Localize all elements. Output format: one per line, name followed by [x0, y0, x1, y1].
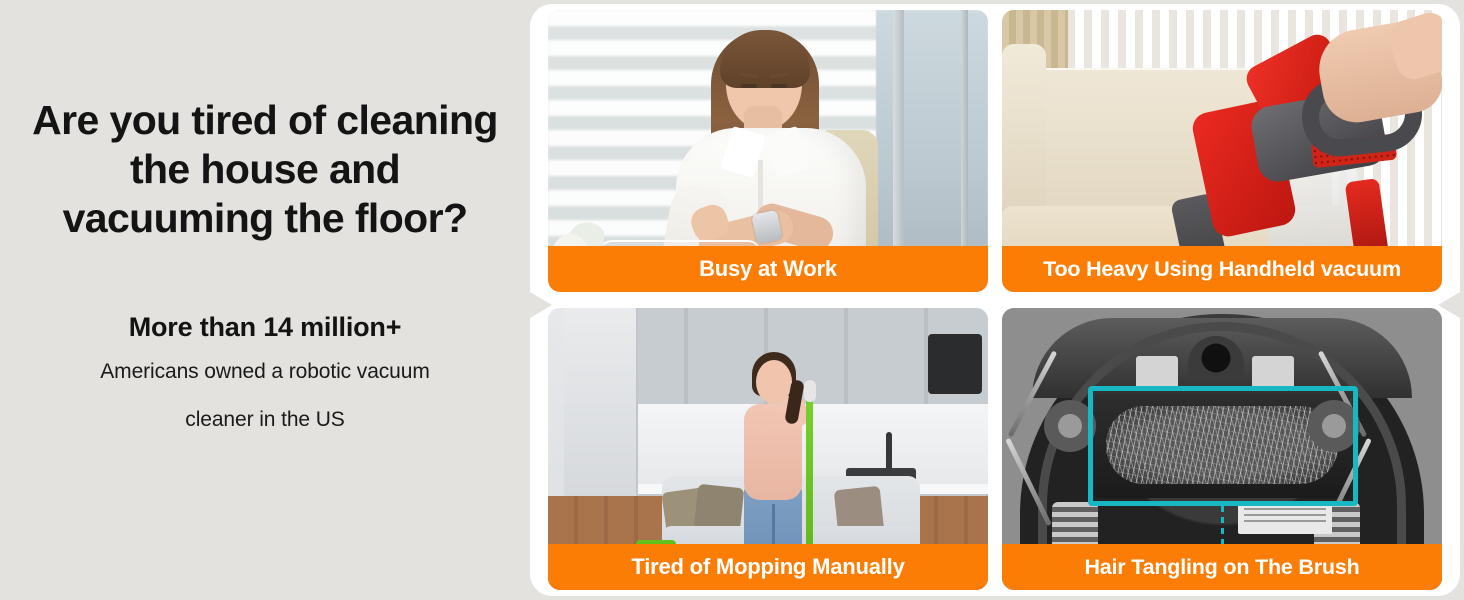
- page-headline: Are you tired of cleaning the house and …: [30, 96, 500, 243]
- tile-caption: Too Heavy Using Handheld vacuum: [1002, 246, 1442, 292]
- statistic-line-1: Americans owned a robotic vacuum: [25, 359, 505, 385]
- statistic-line-2: cleaner in the US: [25, 407, 505, 433]
- image-grid-card: Busy at Work Too Heavy Using Ha: [530, 4, 1460, 596]
- tile-caption: Hair Tangling on The Brush: [1002, 544, 1442, 590]
- left-copy-pane: Are you tired of cleaning the house and …: [0, 0, 530, 600]
- statistic-block: More than 14 million+ Americans owned a …: [25, 311, 505, 433]
- pain-point-grid: Busy at Work Too Heavy Using Ha: [548, 10, 1442, 590]
- pain-point-tile-handheld-vacuum[interactable]: Too Heavy Using Handheld vacuum: [1002, 10, 1442, 292]
- pain-point-tile-hair-tangling[interactable]: Hair Tangling on The Brush: [1002, 308, 1442, 590]
- pain-point-tile-mopping-manually[interactable]: Tired of Mopping Manually: [548, 308, 988, 590]
- banner-root: Are you tired of cleaning the house and …: [0, 0, 1464, 600]
- tile-caption: Busy at Work: [548, 246, 988, 292]
- hair-tangle-highlight-box: [1088, 386, 1358, 506]
- tile-caption: Tired of Mopping Manually: [548, 544, 988, 590]
- statistic-lead: More than 14 million+: [25, 311, 505, 343]
- pain-point-tile-busy-at-work[interactable]: Busy at Work: [548, 10, 988, 292]
